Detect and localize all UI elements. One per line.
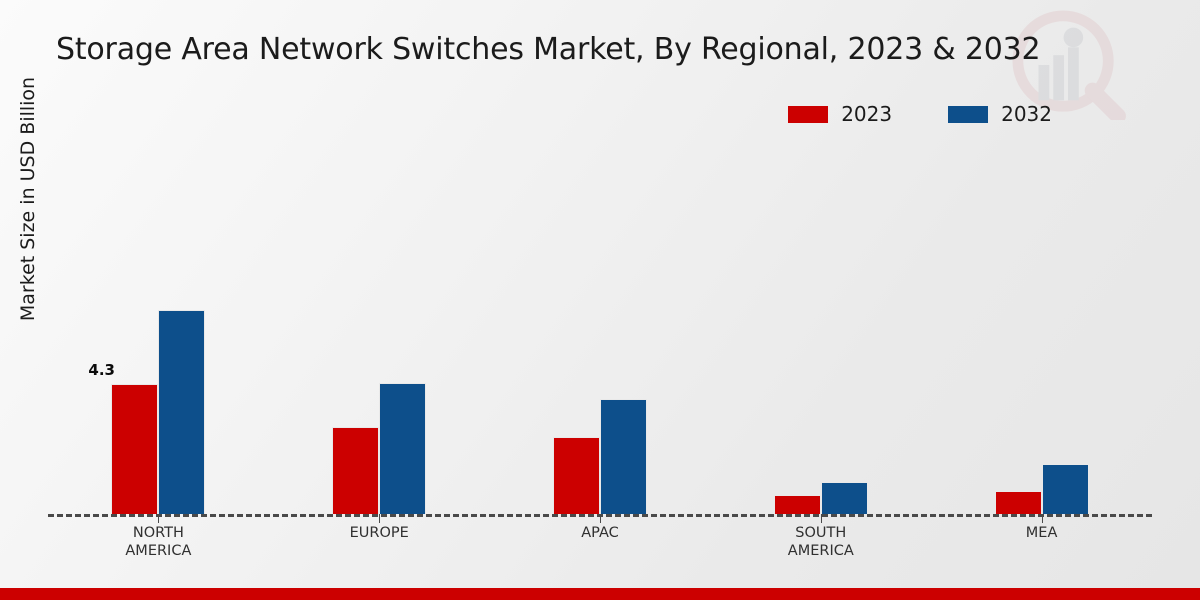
bar-group-mea [931, 140, 1152, 514]
bar-group-apac [490, 140, 711, 514]
bar-group-south-america [710, 140, 931, 514]
x-label-north-america: NORTH AMERICA [48, 524, 269, 560]
bar-group-north-america: 4.3 [48, 140, 269, 514]
legend-swatch-2023 [788, 106, 828, 123]
bar-2032-europe[interactable] [379, 383, 426, 514]
x-label-apac: APAC [490, 524, 711, 560]
x-label-europe: EUROPE [269, 524, 490, 560]
bar-2032-north-america[interactable] [158, 310, 205, 514]
x-label-line: SOUTH [710, 524, 931, 542]
y-axis-title: Market Size in USD Billion [17, 29, 39, 369]
x-label-line: AMERICA [48, 542, 269, 560]
bar-pair [332, 140, 426, 514]
x-label-mea: MEA [931, 524, 1152, 560]
bar-value-label-north-america-2023: 4.3 [88, 361, 115, 379]
x-label-line: AMERICA [710, 542, 931, 560]
bar-2032-mea[interactable] [1042, 464, 1089, 514]
chart-container: Storage Area Network Switches Market, By… [0, 0, 1200, 600]
chart-title: Storage Area Network Switches Market, By… [56, 32, 1040, 67]
x-label-line: APAC [490, 524, 711, 542]
bar-2032-south-america[interactable] [821, 482, 868, 514]
plot-area: 4.3 [48, 140, 1152, 514]
bar-group-europe [269, 140, 490, 514]
chart-legend: 2023 2032 [788, 104, 1052, 124]
legend-item-2032[interactable]: 2032 [948, 104, 1052, 124]
legend-label-2032: 2032 [1001, 104, 1052, 124]
bar-pair [995, 140, 1089, 514]
bar-2023-apac[interactable] [553, 437, 600, 514]
legend-item-2023[interactable]: 2023 [788, 104, 892, 124]
bar-pair [553, 140, 647, 514]
bar-pair [111, 140, 205, 514]
bar-2023-south-america[interactable] [774, 495, 821, 514]
bar-2023-europe[interactable] [332, 427, 379, 514]
x-label-line: EUROPE [269, 524, 490, 542]
bar-groups: 4.3 [48, 140, 1152, 514]
bar-2032-apac[interactable] [600, 399, 647, 514]
bar-pair [774, 140, 868, 514]
x-axis-baseline [48, 514, 1152, 517]
x-label-south-america: SOUTH AMERICA [710, 524, 931, 560]
bar-2023-north-america[interactable] [111, 384, 158, 514]
bar-2023-mea[interactable] [995, 491, 1042, 514]
footer-accent-bar [0, 588, 1200, 600]
legend-label-2023: 2023 [841, 104, 892, 124]
x-label-line: NORTH [48, 524, 269, 542]
x-label-line: MEA [931, 524, 1152, 542]
legend-swatch-2032 [948, 106, 988, 123]
x-axis-category-labels: NORTH AMERICA EUROPE APAC SOUTH AMERICA … [48, 524, 1152, 560]
